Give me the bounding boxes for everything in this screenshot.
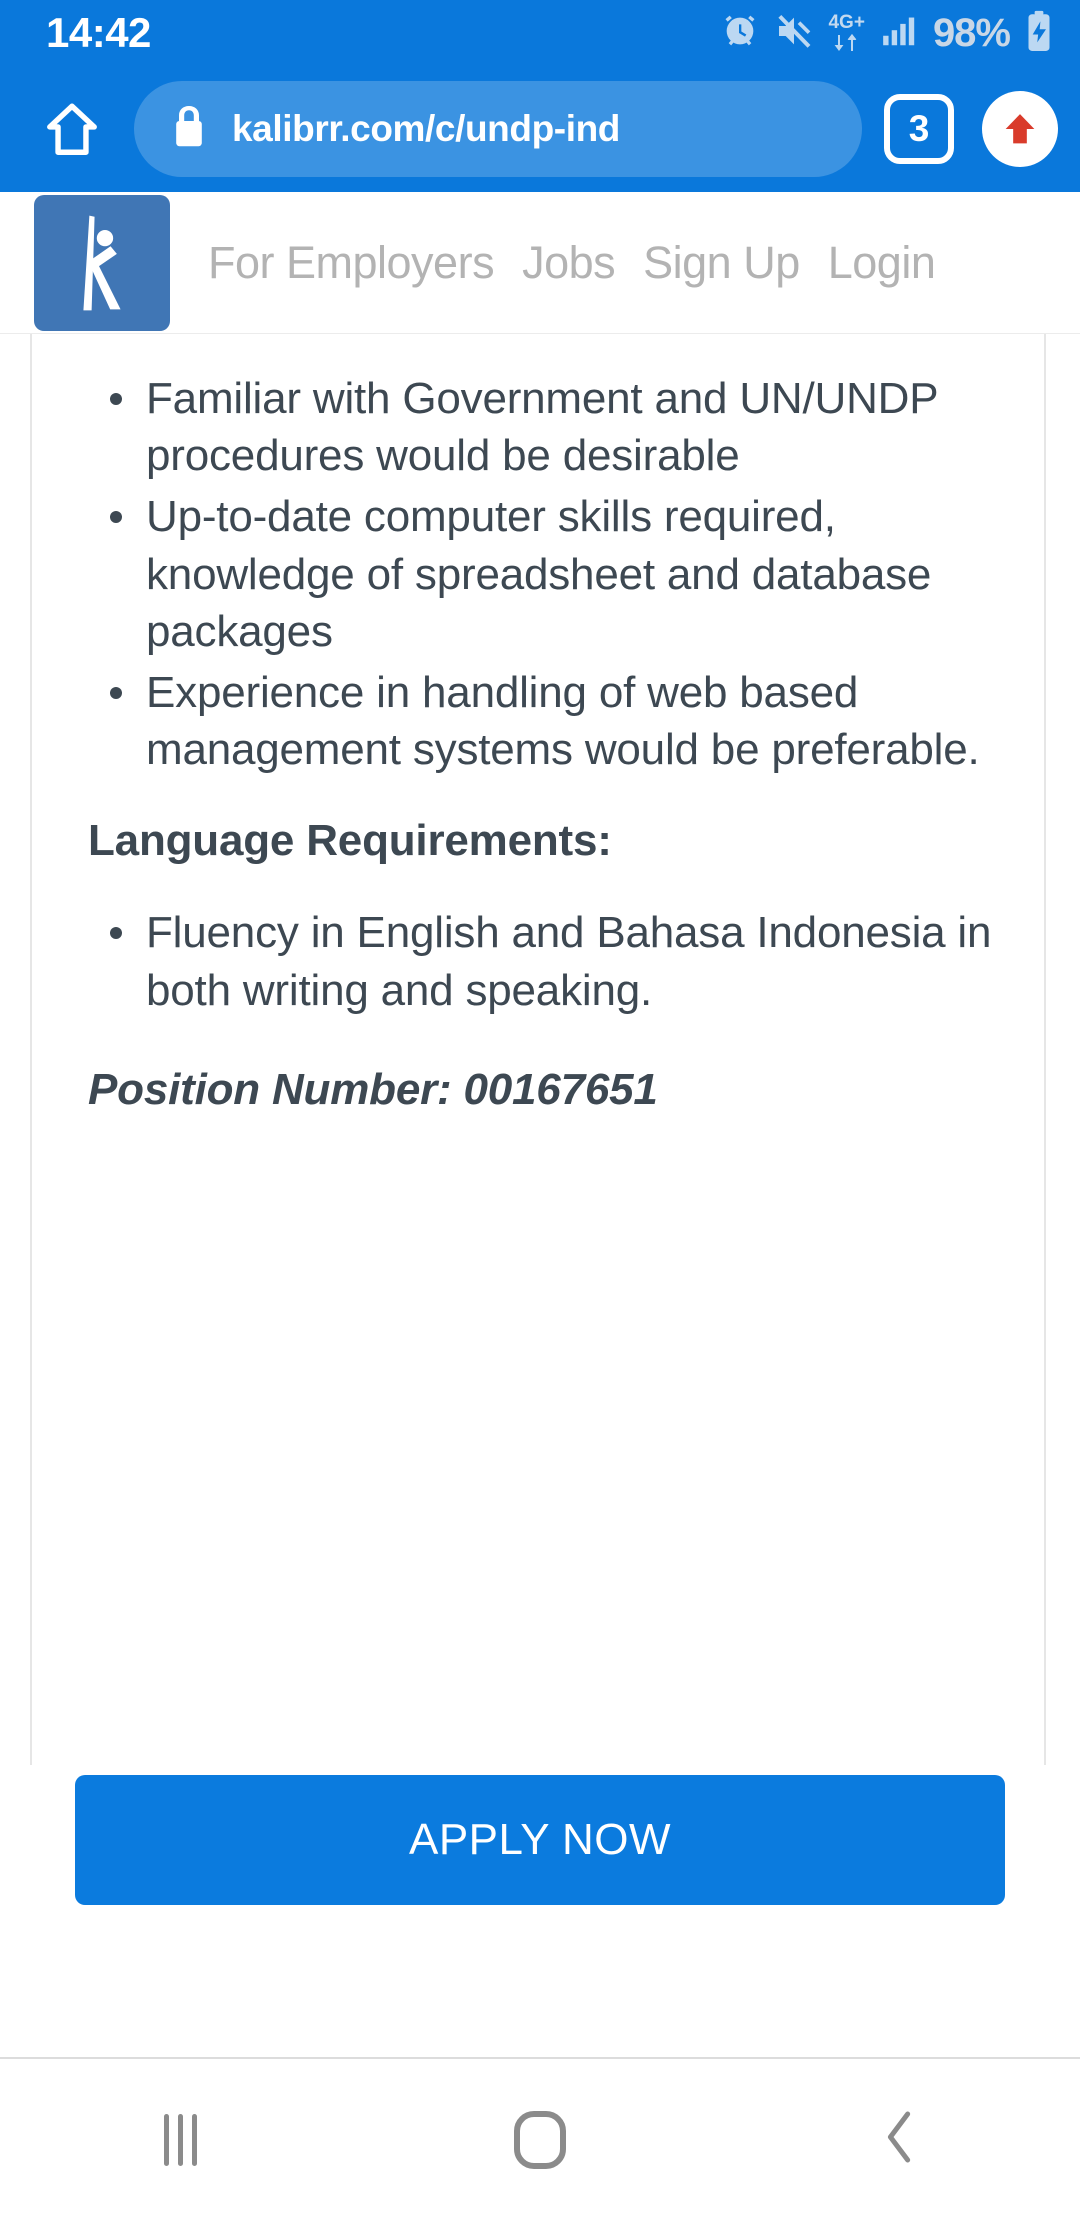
site-nav: For Employers Jobs Sign Up Login bbox=[194, 237, 949, 289]
web-page: For Employers Jobs Sign Up Login Familia… bbox=[0, 192, 1080, 2057]
list-item: Fluency in English and Bahasa Indonesia … bbox=[88, 904, 1010, 1018]
home-button-icon bbox=[514, 2111, 566, 2169]
alarm-icon bbox=[720, 11, 760, 56]
site-header: For Employers Jobs Sign Up Login bbox=[0, 192, 1080, 334]
status-clock: 14:42 bbox=[46, 12, 151, 54]
position-number-line: Position Number: 00167651 bbox=[88, 1065, 1010, 1115]
battery-percent-label: 98% bbox=[933, 13, 1010, 53]
mute-icon bbox=[774, 11, 814, 56]
apply-bar: APPLY NOW bbox=[0, 1765, 1080, 2055]
nav-link-for-employers[interactable]: For Employers bbox=[194, 237, 508, 289]
kalibrr-logo[interactable] bbox=[34, 195, 170, 331]
home-button[interactable] bbox=[360, 2059, 720, 2220]
job-description-scroll-area[interactable]: Familiar with Government and UN/UNDP pro… bbox=[0, 334, 1080, 1912]
nav-link-login[interactable]: Login bbox=[814, 237, 950, 289]
lock-icon bbox=[168, 103, 210, 156]
home-icon[interactable] bbox=[34, 91, 110, 167]
list-item: Familiar with Government and UN/UNDP pro… bbox=[88, 370, 1010, 484]
system-navigation-bar bbox=[0, 2057, 1080, 2220]
language-requirements-heading: Language Requirements: bbox=[88, 816, 1010, 866]
browser-toolbar: kalibrr.com/c/undp-ind 3 bbox=[0, 66, 1080, 192]
back-button[interactable] bbox=[720, 2059, 1080, 2220]
list-item: Experience in handling of web based mana… bbox=[88, 664, 1010, 778]
language-requirements-list: Fluency in English and Bahasa Indonesia … bbox=[88, 904, 1010, 1018]
battery-charging-icon bbox=[1024, 10, 1054, 57]
nav-link-sign-up[interactable]: Sign Up bbox=[629, 237, 814, 289]
network-4g-icon: 4G+ bbox=[828, 13, 864, 54]
signal-bars-icon bbox=[879, 12, 919, 55]
qualifications-list: Familiar with Government and UN/UNDP pro… bbox=[88, 370, 1010, 778]
url-bar[interactable]: kalibrr.com/c/undp-ind bbox=[134, 81, 862, 177]
tab-counter-button[interactable]: 3 bbox=[884, 94, 954, 164]
url-text[interactable]: kalibrr.com/c/undp-ind bbox=[232, 108, 620, 150]
list-item: Up-to-date computer skills required, kno… bbox=[88, 488, 1010, 660]
recents-button[interactable] bbox=[0, 2059, 360, 2220]
nav-link-jobs[interactable]: Jobs bbox=[508, 237, 629, 289]
status-icons: 4G+ 98% bbox=[720, 10, 1054, 57]
upload-arrow-icon[interactable] bbox=[982, 91, 1058, 167]
job-description-body: Familiar with Government and UN/UNDP pro… bbox=[30, 334, 1046, 1912]
status-bar: 14:42 4G+ bbox=[0, 0, 1080, 66]
apply-now-button[interactable]: APPLY NOW bbox=[75, 1775, 1005, 1905]
recents-icon bbox=[164, 2114, 197, 2166]
back-chevron-icon bbox=[877, 2106, 923, 2173]
